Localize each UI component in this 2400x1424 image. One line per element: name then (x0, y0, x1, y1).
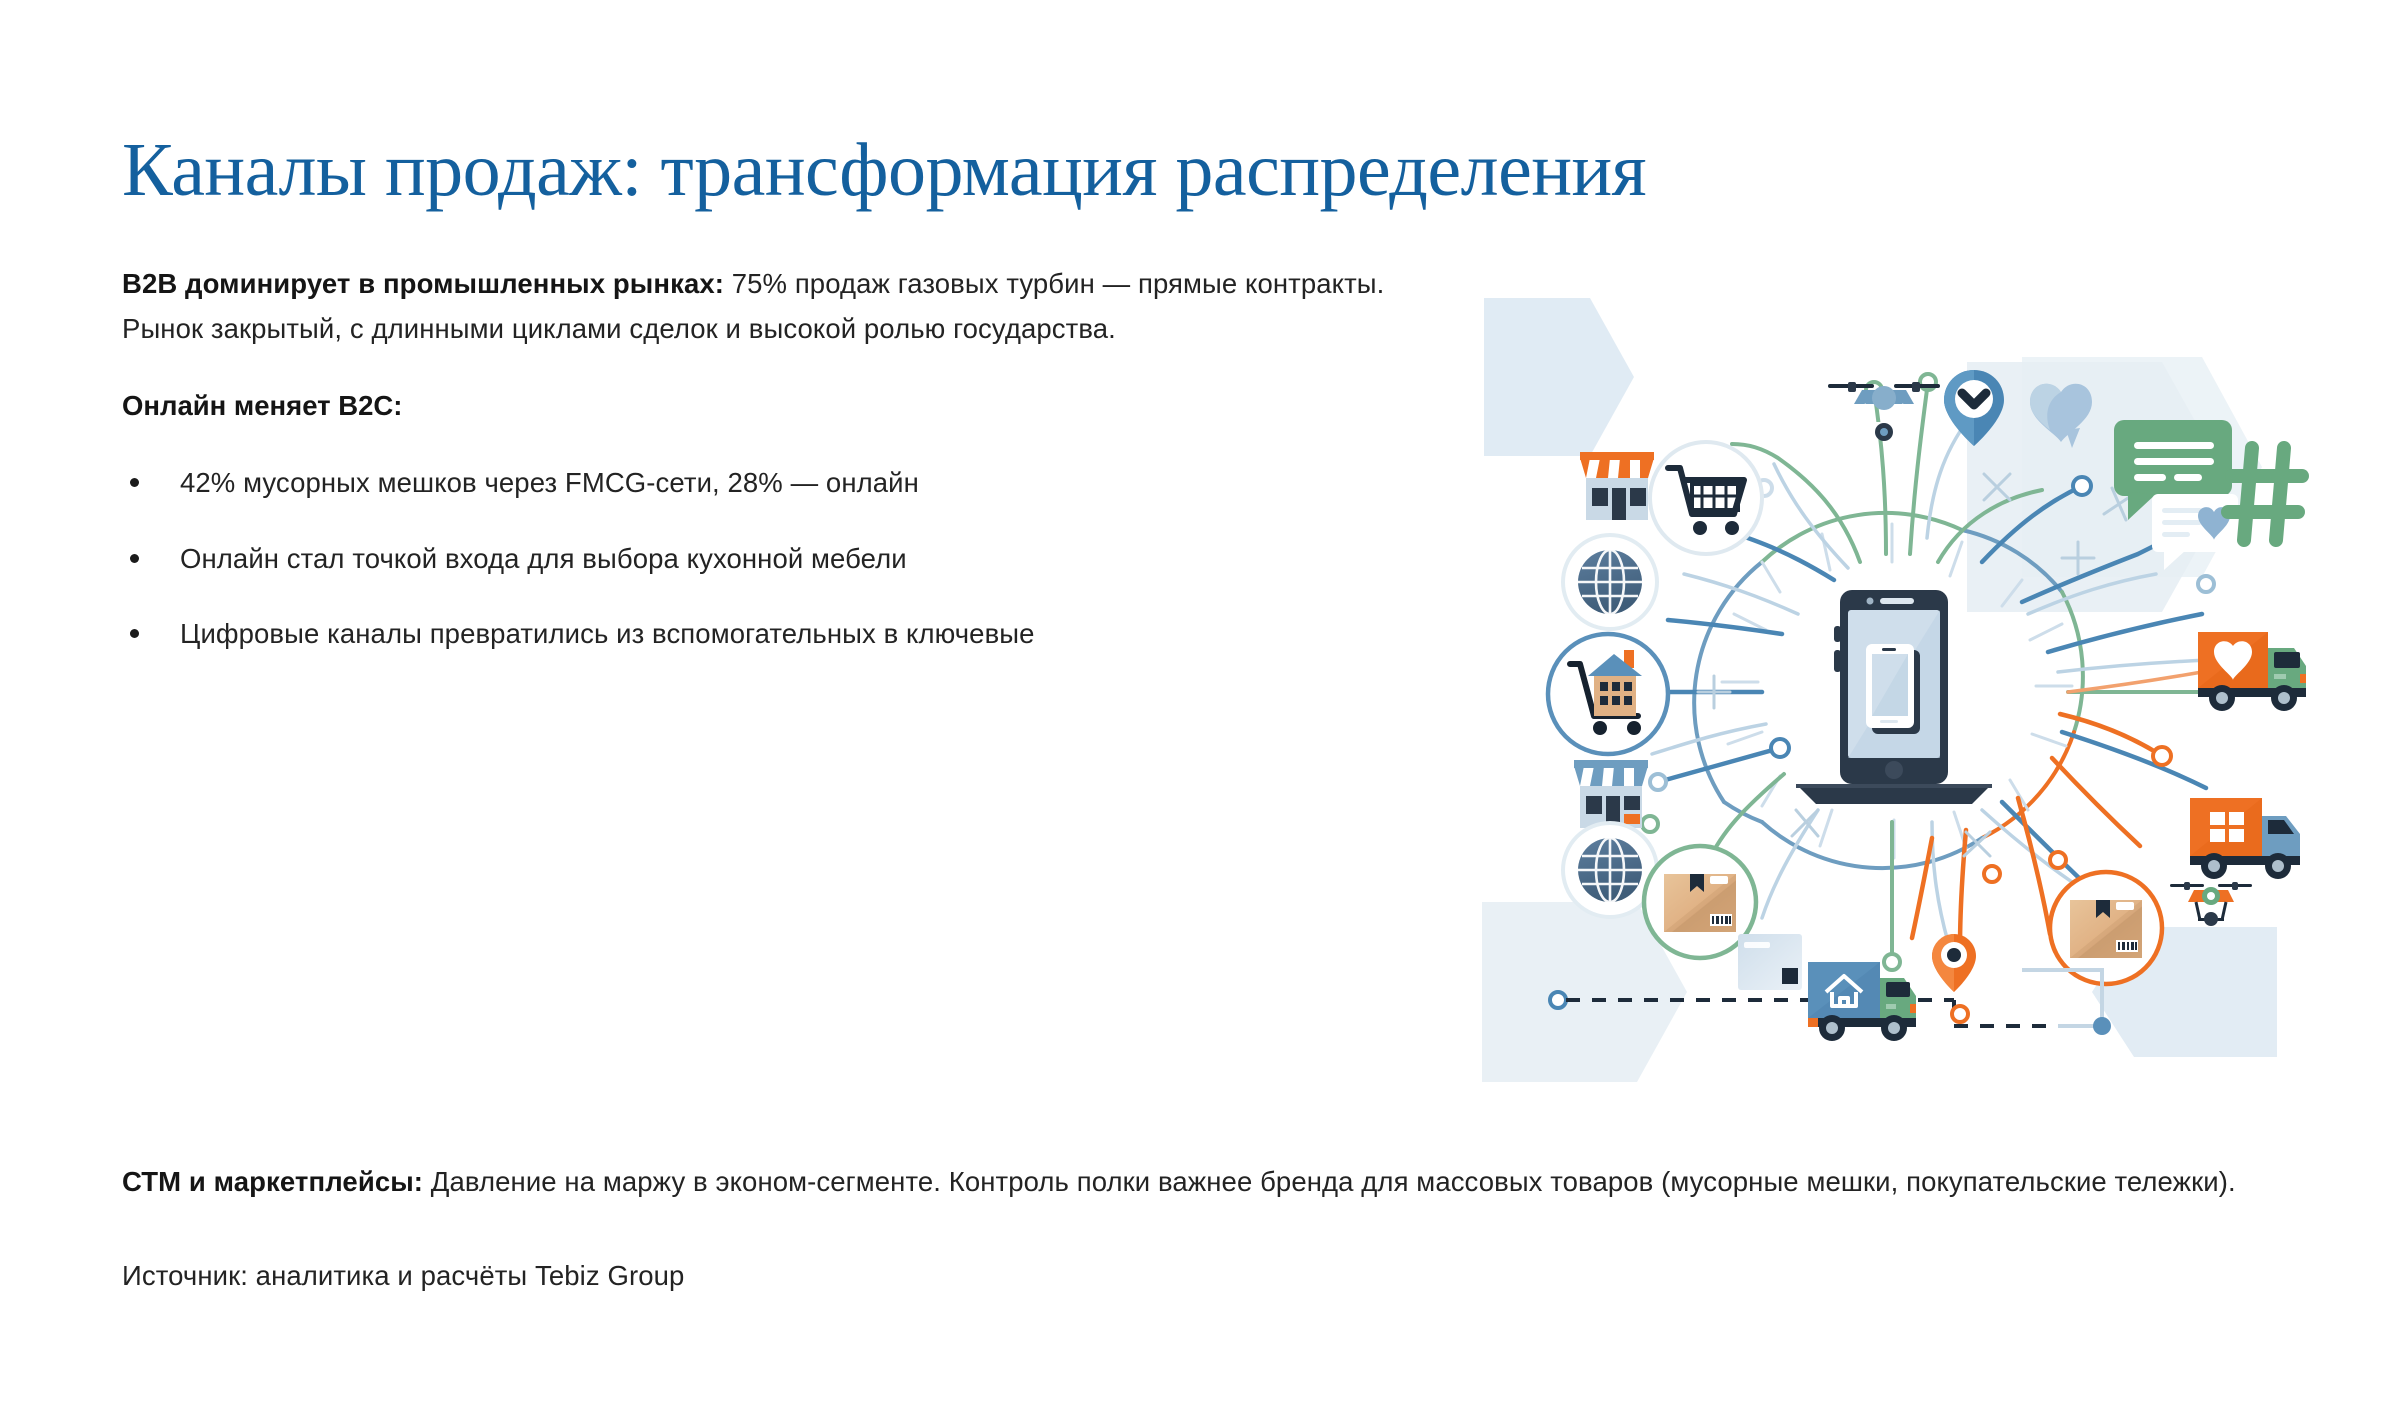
paragraph-b2b-lead: B2B доминирует в промышленных рынках: (122, 268, 724, 299)
slide-root: Каналы продаж: трансформация распределен… (0, 0, 2400, 1424)
list-item: Онлайн стал точкой входа для выбора кухо… (122, 538, 1392, 579)
package-box-orange-circle-icon (2050, 872, 2162, 984)
bullet-dot-icon (130, 554, 139, 563)
paragraph-ctm: СТМ и маркетплейсы: Давление на маржу в … (122, 1160, 2282, 1205)
card-reader-icon (1738, 934, 1802, 990)
globe-circle-icon (1563, 535, 1657, 629)
bullet-dot-icon (130, 478, 139, 487)
shopping-cart-circle-icon (1650, 442, 1762, 554)
body-text-column: B2B доминирует в промышленных рынках: 75… (122, 262, 1392, 654)
house-cart-circle-icon (1548, 634, 1668, 754)
list-item-label: 42% мусорных мешков через FMCG-сети, 28%… (180, 467, 919, 498)
list-item: Цифровые каналы превратились из вспомога… (122, 613, 1392, 654)
shop-blue-awning-icon (1574, 760, 1648, 828)
list-item-label: Цифровые каналы превратились из вспомога… (180, 618, 1035, 649)
paragraph-ctm-lead: СТМ и маркетплейсы: (122, 1166, 423, 1197)
list-item-label: Онлайн стал точкой входа для выбора кухо… (180, 543, 907, 574)
bullet-dot-icon (130, 629, 139, 638)
page-title: Каналы продаж: трансформация распределен… (122, 129, 2282, 211)
subheading-b2c: Онлайн меняет B2C: (122, 385, 1392, 426)
list-item: 42% мусорных мешков через FMCG-сети, 28%… (122, 462, 1392, 503)
distribution-network-illustration (1462, 262, 2322, 1102)
source-line: Источник: аналитика и расчёты Tebiz Grou… (122, 1257, 2282, 1296)
paragraph-ctm-rest: Давление на маржу в эконом-сегменте. Кон… (423, 1166, 2236, 1197)
footer-block: СТМ и маркетплейсы: Давление на маржу в … (122, 1160, 2282, 1295)
bullet-list: 42% мусорных мешков через FMCG-сети, 28%… (122, 462, 1392, 654)
paragraph-b2b: B2B доминирует в промышленных рынках: 75… (122, 262, 1392, 351)
shop-orange-awning-icon (1580, 452, 1654, 520)
